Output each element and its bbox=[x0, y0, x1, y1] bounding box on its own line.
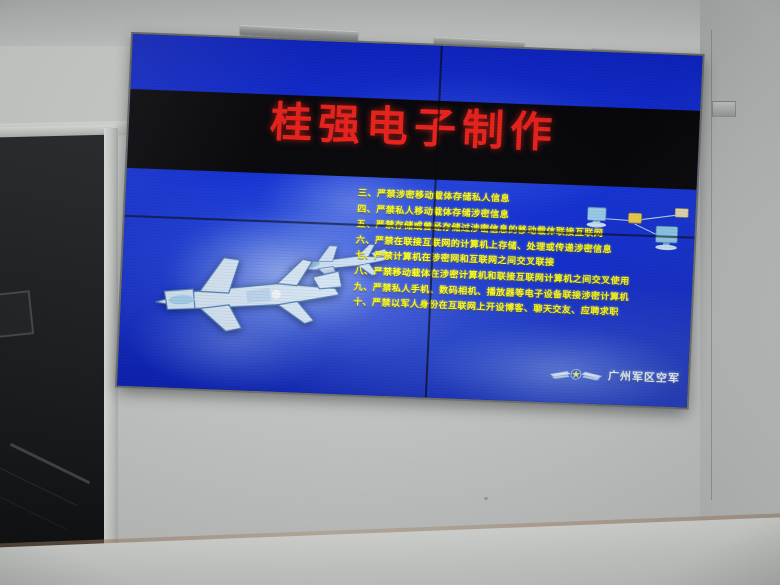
room-photo: 严格遵守军队保密规定 做 "十个严禁" bbox=[0, 0, 780, 585]
rules-list: 三、严禁涉密移动载体存储私人信息 四、严禁私人移动载体存储涉密信息 五、严禁存储… bbox=[353, 187, 688, 324]
right-wall-plane bbox=[700, 0, 780, 585]
stairwell-doorway bbox=[0, 132, 108, 585]
video-wall[interactable]: 严格遵守军队保密规定 做 "十个严禁" bbox=[117, 34, 703, 408]
stair-handrail bbox=[10, 443, 90, 484]
framed-picture bbox=[0, 290, 34, 338]
fighter-jet-icon bbox=[142, 243, 349, 341]
wall-mount-hook bbox=[712, 101, 736, 117]
air-force-logo-text: 广州军区空军 bbox=[608, 367, 681, 386]
video-wall-screen[interactable]: 严格遵守军队保密规定 做 "十个严禁" bbox=[117, 34, 703, 408]
wall-scuff-mark bbox=[484, 497, 488, 500]
door-frame bbox=[104, 128, 118, 585]
ceiling bbox=[0, 0, 780, 46]
air-force-winged-emblem-icon bbox=[549, 364, 604, 384]
